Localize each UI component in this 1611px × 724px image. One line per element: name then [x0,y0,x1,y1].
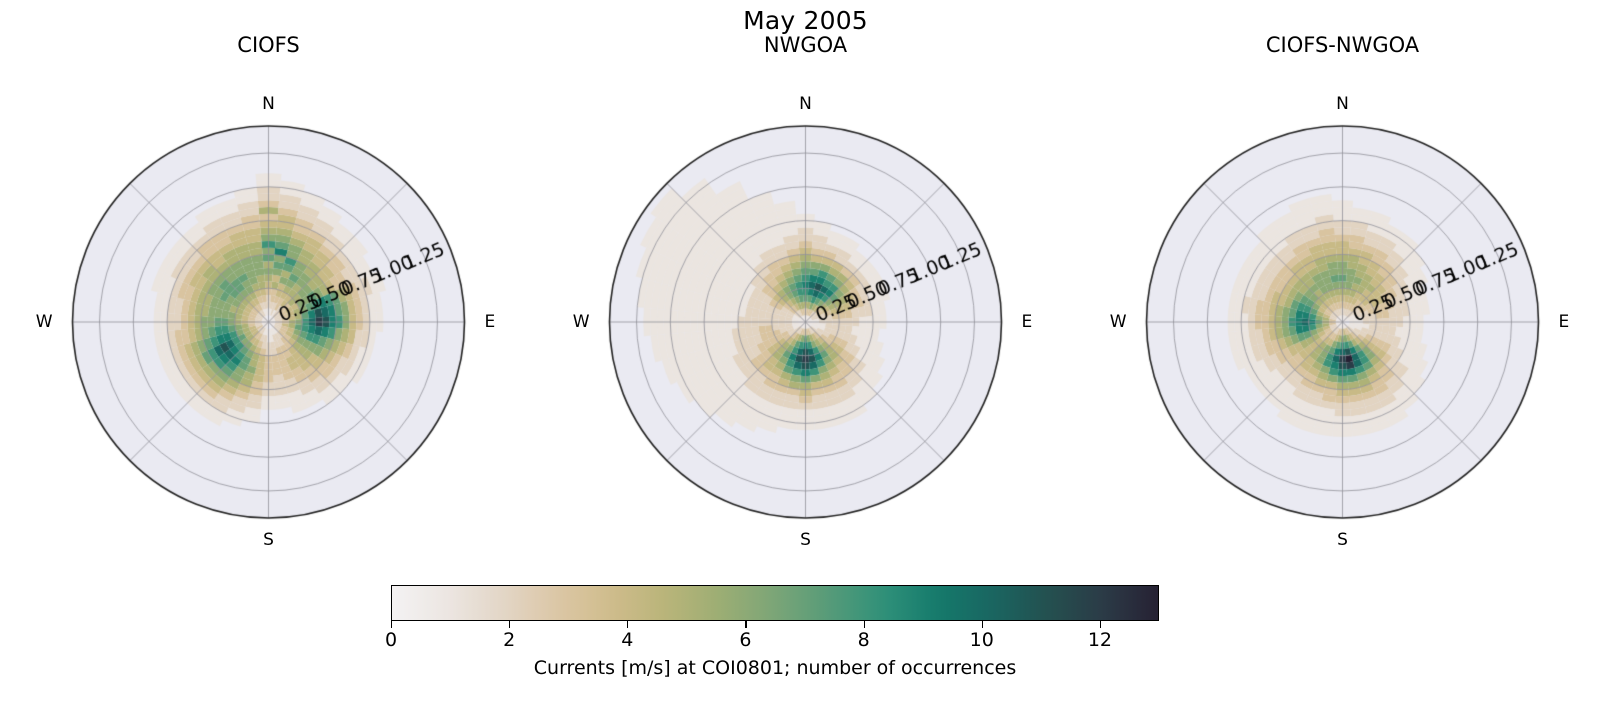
compass-label-n: N [262,94,275,114]
colorbar-ticklabel: 12 [1088,629,1112,652]
compass-label-w: W [573,312,590,332]
polar-histogram-ciofs [0,0,537,590]
colorbar-label: Currents [m/s] at COI0801; number of occ… [391,657,1159,680]
compass-label-n: N [1336,94,1349,114]
figure-canvas: May 2005 CIOFS NESW NWGOA NESW CIOFS-NWG… [0,0,1611,724]
compass-label-e: E [485,312,496,332]
polar-panel-ciofs: CIOFS NESW [0,0,537,590]
colorbar-ticklabel: 2 [503,629,515,652]
compass-label-n: N [799,94,812,114]
colorbar-ticklabel: 8 [858,629,870,652]
polar-axes-ciofs-nwgoa[interactable]: NESW [1074,0,1611,590]
colorbar-ticklabel: 4 [621,629,633,652]
colorbar-tick [864,621,865,628]
colorbar-tick [509,621,510,628]
polar-histogram-ciofs-nwgoa [1074,0,1611,590]
colorbar-tick [1100,621,1101,628]
polar-histogram-nwgoa [537,0,1074,590]
colorbar-ticklabel: 0 [385,629,397,652]
compass-label-e: E [1022,312,1033,332]
polar-axes-ciofs[interactable]: NESW [0,0,537,590]
compass-label-s: S [1337,530,1348,550]
colorbar-ticklabel: 6 [739,629,751,652]
colorbar[interactable]: 024681012 Currents [m/s] at COI0801; num… [391,585,1159,621]
colorbar-tick [745,621,746,628]
compass-label-e: E [1559,312,1570,332]
compass-label-w: W [36,312,53,332]
colorbar-tick [627,621,628,628]
colorbar-tick [982,621,983,628]
colorbar-tick [391,621,392,628]
polar-panel-nwgoa: NWGOA NESW [537,0,1074,590]
colorbar-gradient [391,585,1159,621]
compass-label-s: S [800,530,811,550]
colorbar-ticklabel: 10 [970,629,994,652]
compass-label-s: S [263,530,274,550]
polar-panel-ciofs-nwgoa: CIOFS-NWGOA NESW [1074,0,1611,590]
compass-label-w: W [1110,312,1127,332]
polar-axes-nwgoa[interactable]: NESW [537,0,1074,590]
